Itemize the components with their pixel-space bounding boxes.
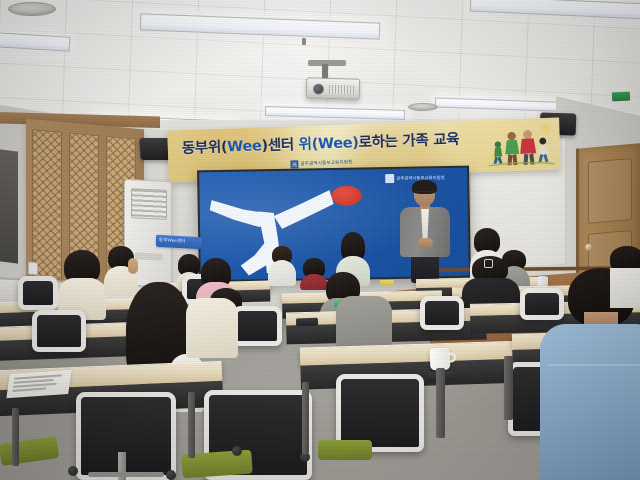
chair-caster: [232, 446, 242, 456]
presenter: [398, 182, 454, 280]
office-chair[interactable]: [76, 392, 176, 480]
list-item: [58, 250, 106, 312]
desk-leg: [12, 408, 19, 466]
attendee-body: [186, 298, 238, 358]
banner-title-part: 동부위(: [182, 140, 228, 157]
list-item: [610, 246, 640, 306]
paper-handout[interactable]: [6, 370, 71, 399]
air-conditioner-grille: [131, 188, 167, 220]
attendee-raised-arm: [128, 258, 138, 274]
education-office-logo-icon: [385, 174, 394, 183]
handout-line: [13, 383, 57, 388]
chair-seat: [318, 440, 372, 460]
ceiling-vent: [408, 103, 438, 111]
attendee-body: [610, 268, 640, 308]
photo-scene: 동부위(Wee)센터 위(Wee)로하는 가족 교육 光 광주광역시동부교육지원…: [0, 0, 640, 480]
eyeglasses-icon: [415, 191, 434, 195]
banner-title-accent: Wee: [227, 138, 262, 155]
banner-title-accent: 위(Wee): [298, 135, 358, 153]
office-chair[interactable]: [32, 310, 86, 352]
chair-caster: [166, 470, 176, 480]
education-office-logo-icon: 光: [290, 160, 298, 168]
presenter-hands: [418, 238, 433, 248]
family-group-illustration-icon: [485, 121, 556, 168]
cabinet-name-label-text: 동부Wee센터: [159, 237, 200, 245]
banner-title-part: )센터: [261, 137, 299, 154]
wall-frame: [0, 148, 18, 263]
smartphone-on-desk[interactable]: [296, 318, 318, 327]
hair-clip-icon: [484, 259, 493, 268]
cabinet-name-label: 동부Wee센터: [156, 235, 202, 249]
desk-leg: [436, 368, 445, 438]
list-item: [268, 246, 296, 286]
projector-lens: [313, 83, 324, 94]
ceiling-vent: [8, 2, 56, 16]
banner-title-part: 로하는 가족 교육: [358, 132, 459, 151]
projector-vent: [329, 85, 355, 95]
handout-line: [14, 374, 62, 379]
banner-organization-label: 광주광역시동부교육지원청: [300, 159, 352, 167]
desk-leg: [302, 382, 309, 454]
air-conditioner-panel[interactable]: [135, 252, 163, 260]
chair-caster: [68, 466, 78, 476]
projector-icon: [306, 77, 361, 99]
attendee-body: [268, 260, 296, 286]
shirt-seam: [548, 364, 640, 366]
office-chair[interactable]: [232, 306, 282, 346]
office-chair[interactable]: [18, 276, 58, 310]
handout-line: [12, 387, 46, 391]
desk-leg: [188, 392, 195, 458]
list-item: [186, 298, 238, 358]
door-panel: [588, 158, 632, 224]
coffee-mug[interactable]: [430, 348, 451, 371]
office-chair[interactable]: [420, 296, 464, 330]
sprinkler-head: [302, 38, 306, 45]
desk-sticky-note[interactable]: [380, 280, 394, 285]
desk-leg: [504, 356, 513, 420]
exit-sign: [612, 92, 630, 102]
chair-base: [88, 472, 164, 477]
wall-outlet[interactable]: [28, 262, 38, 276]
attendee-body: [540, 324, 640, 480]
